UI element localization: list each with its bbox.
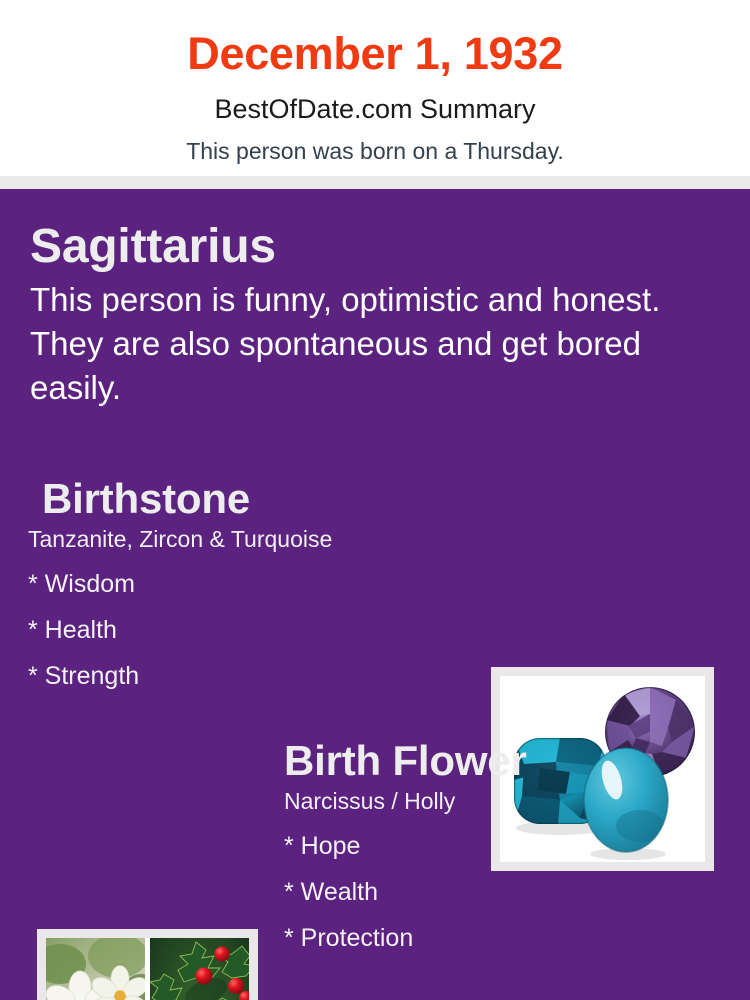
list-item: * Health bbox=[28, 618, 478, 664]
site-name: BestOfDate.com Summary bbox=[0, 76, 750, 123]
header: December 1, 1932 BestOfDate.com Summary … bbox=[0, 0, 750, 176]
header-divider bbox=[0, 176, 750, 189]
content-panel: Sagittarius This person is funny, optimi… bbox=[0, 189, 750, 1000]
weekday-tagline: This person was born on a Thursday. bbox=[0, 123, 750, 163]
flowers-illustration bbox=[46, 938, 249, 1000]
summary-card: December 1, 1932 BestOfDate.com Summary … bbox=[0, 0, 750, 1000]
page-title-date: December 1, 1932 bbox=[0, 0, 750, 76]
birthstone-names: Tanzanite, Zircon & Turquoise bbox=[28, 521, 478, 554]
birth-flower-heading: Birth Flower bbox=[278, 739, 738, 783]
birth-flower-image bbox=[46, 938, 249, 1000]
list-item: * Strength bbox=[28, 664, 478, 710]
list-item: * Protection bbox=[284, 926, 738, 972]
birth-flower-section: Birth Flower Narcissus / Holly * Hope * … bbox=[278, 739, 738, 972]
birthstone-section: Birthstone Tanzanite, Zircon & Turquoise… bbox=[28, 477, 478, 710]
birth-flower-trait-list: * Hope * Wealth * Protection bbox=[278, 816, 738, 972]
birthstone-trait-list: * Wisdom * Health * Strength bbox=[28, 554, 478, 710]
list-item: * Wealth bbox=[284, 880, 738, 926]
zodiac-sign-heading: Sagittarius bbox=[30, 220, 730, 274]
list-item: * Wisdom bbox=[28, 572, 478, 618]
birth-flower-image-frame bbox=[37, 929, 258, 1000]
holly-photo bbox=[144, 938, 249, 1000]
list-item: * Hope bbox=[284, 834, 738, 880]
zodiac-section: Sagittarius This person is funny, optimi… bbox=[30, 220, 730, 409]
birth-flower-names: Narcissus / Holly bbox=[278, 783, 738, 816]
birthstone-heading: Birthstone bbox=[28, 477, 478, 521]
zodiac-description: This person is funny, optimistic and hon… bbox=[30, 278, 725, 410]
